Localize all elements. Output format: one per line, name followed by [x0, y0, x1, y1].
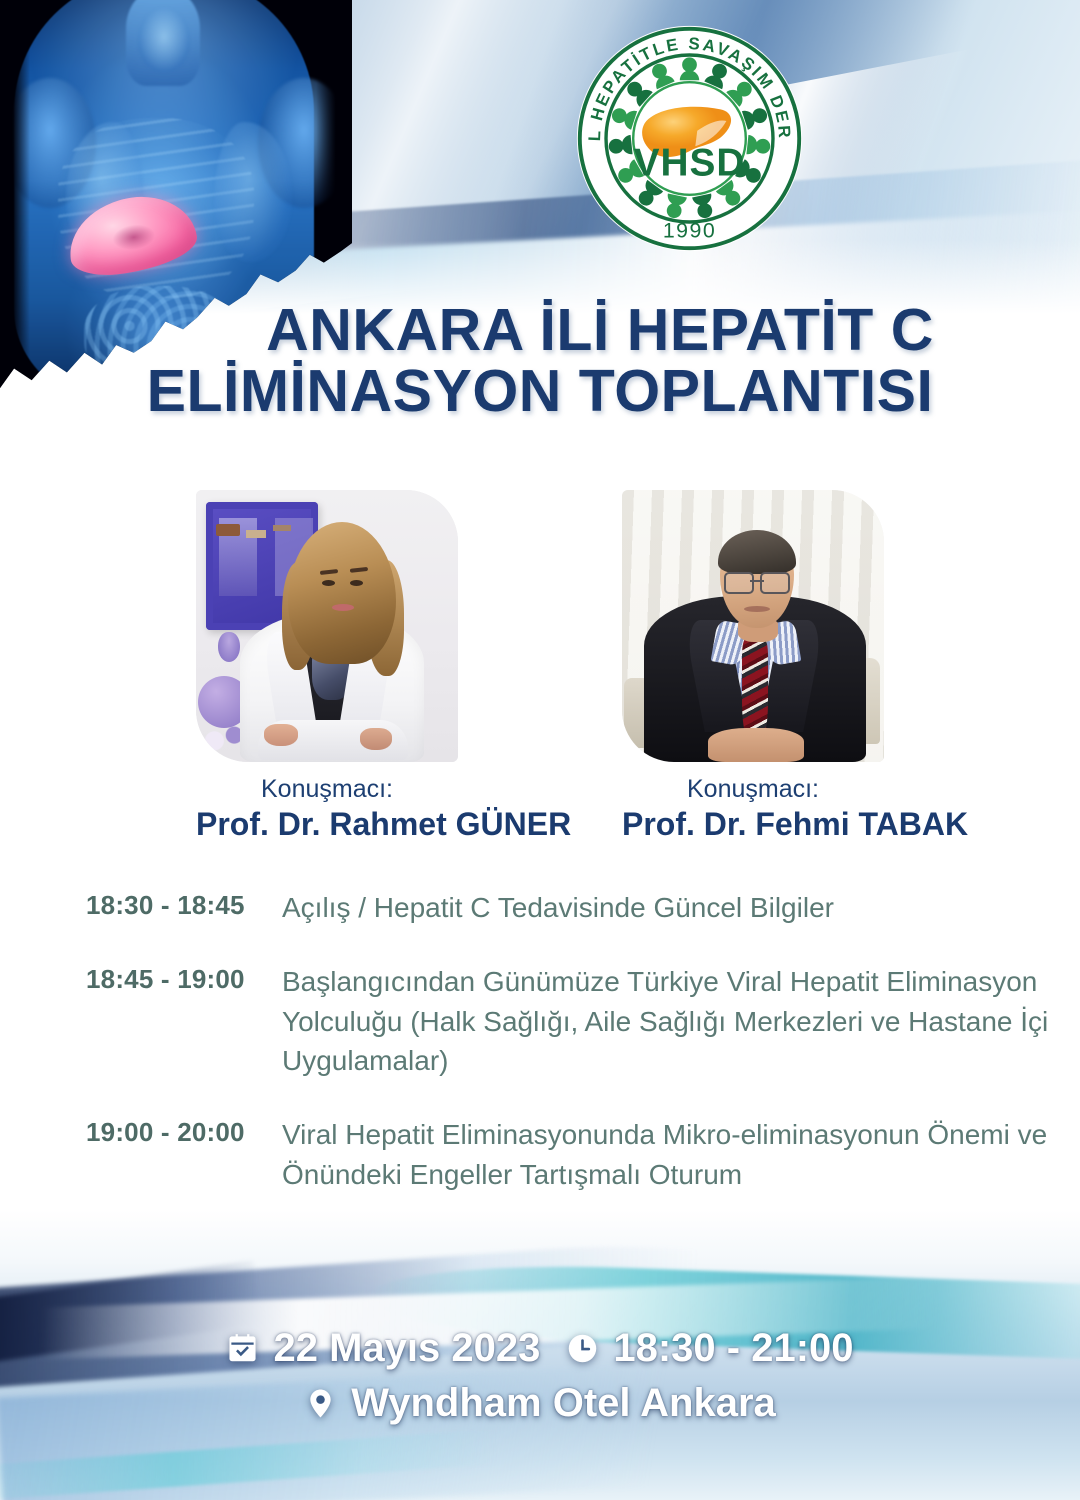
hanging-decor [218, 632, 240, 662]
speakers-section: Konuşmacı: Prof. Dr. Rahmet GÜNER [0, 490, 1080, 842]
vhsd-logo: VHSD VİRAL HEPATİTLE SAVAŞIM DERNEĞİ 199… [573, 22, 806, 255]
footer-banner: 22 Mayıs 2023 18:30 - 21:00 Wynd [0, 1210, 1080, 1500]
speaker-role-1: Konuşmacı: [196, 776, 458, 804]
mouth [332, 604, 354, 611]
schedule-time: 19:00 - 20:00 [86, 1115, 282, 1148]
speaker-name-2: Prof. Dr. Fehmi TABAK [622, 806, 884, 843]
mouth [744, 606, 770, 612]
footer-details: 22 Mayıs 2023 18:30 - 21:00 Wynd [0, 1210, 1080, 1426]
schedule-row: 19:00 - 20:00 Viral Hepatit Eliminasyonu… [86, 1115, 1066, 1195]
speaker-name-1: Prof. Dr. Rahmet GÜNER [196, 806, 458, 843]
logo-acronym: VHSD [634, 141, 746, 184]
speaker-role-2: Konuşmacı: [622, 776, 884, 804]
schedule-description: Viral Hepatit Eliminasyonunda Mikro-elim… [282, 1115, 1066, 1195]
footer-date-chunk: 22 Mayıs 2023 [226, 1326, 540, 1371]
schedule-row: 18:45 - 19:00 Başlangıcından Günümüze Tü… [86, 962, 1066, 1081]
eyes [322, 580, 335, 586]
schedule-description: Başlangıcından Günümüze Türkiye Viral He… [282, 962, 1066, 1081]
eyeglasses [724, 572, 790, 592]
footer-venue-text: Wyndham Otel Ankara [351, 1381, 776, 1426]
footer-line-venue: Wyndham Otel Ankara [0, 1381, 1080, 1426]
footer-line-date-time: 22 Mayıs 2023 18:30 - 21:00 [0, 1326, 1080, 1371]
location-pin-icon [304, 1387, 337, 1420]
shelf-items [216, 524, 240, 536]
hand-left [264, 724, 298, 746]
female-doctor-photo [196, 490, 458, 762]
schedule-description: Açılış / Hepatit C Tedavisinde Güncel Bi… [282, 888, 834, 928]
speaker-photo-1 [196, 490, 458, 762]
upper-organ-shape [138, 8, 190, 72]
title-line-2: ELİMİNASYON TOPLANTISI [0, 361, 1080, 422]
schedule-row: 18:30 - 18:45 Açılış / Hepatit C Tedavis… [86, 888, 1066, 928]
page-title: ANKARA İLİ HEPATİT C ELİMİNASYON TOPLANT… [0, 300, 1080, 422]
footer-date-text: 22 Mayıs 2023 [273, 1326, 540, 1371]
speaker-card-1: Konuşmacı: Prof. Dr. Rahmet GÜNER [196, 490, 458, 842]
title-line-1: ANKARA İLİ HEPATİT C [0, 300, 1080, 361]
hands [708, 728, 804, 762]
schedule-list: 18:30 - 18:45 Açılış / Hepatit C Tedavis… [86, 888, 1066, 1229]
glasses-bridge [750, 580, 764, 582]
hand-right [360, 728, 392, 750]
clock-icon [566, 1332, 599, 1365]
footer-time-text: 18:30 - 21:00 [613, 1326, 853, 1371]
footer-time-chunk: 18:30 - 21:00 [566, 1326, 853, 1371]
schedule-time: 18:45 - 19:00 [86, 962, 282, 995]
speaker-photo-2 [622, 490, 884, 762]
speaker-card-2: Konuşmacı: Prof. Dr. Fehmi TABAK [622, 490, 884, 842]
hair [288, 522, 396, 664]
calendar-icon [226, 1332, 259, 1365]
footer-venue-chunk: Wyndham Otel Ankara [304, 1381, 776, 1426]
logo-year: 1990 [663, 219, 716, 243]
male-doctor-photo [622, 490, 884, 762]
schedule-time: 18:30 - 18:45 [86, 888, 282, 921]
poster-canvas: VHSD VİRAL HEPATİTLE SAVAŞIM DERNEĞİ 199… [0, 0, 1080, 1500]
